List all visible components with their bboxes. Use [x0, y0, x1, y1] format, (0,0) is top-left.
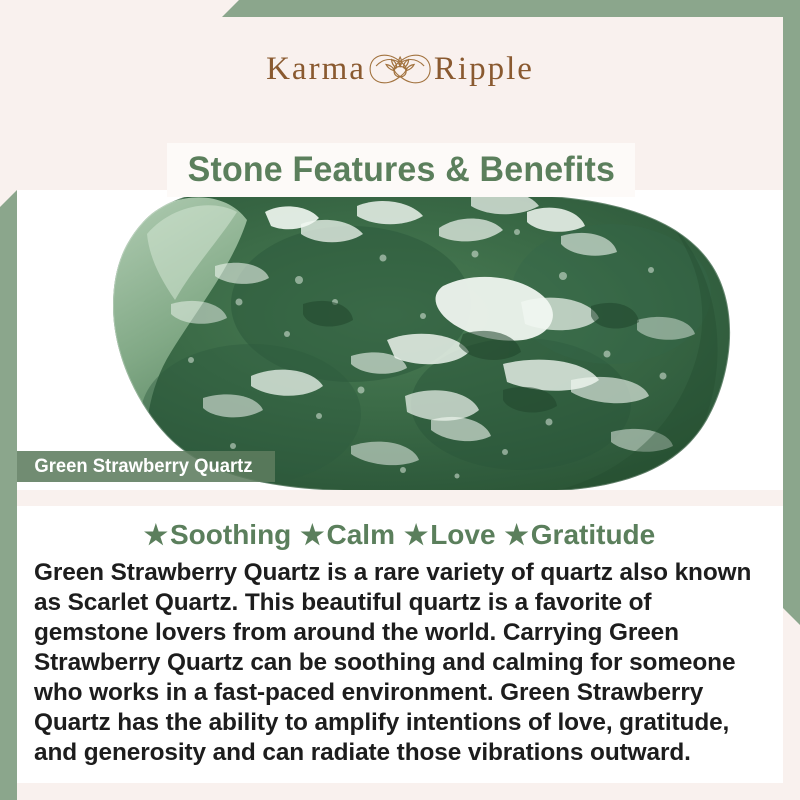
- feature-keyword-calm: Calm: [327, 519, 395, 550]
- bottom-cream-strip: [17, 783, 783, 800]
- star-icon-2: ★: [300, 520, 324, 550]
- header: Karma: [0, 0, 800, 120]
- brand-name-right: Ripple: [434, 53, 534, 86]
- stone-photo-panel: Green Strawberry Quartz: [17, 190, 783, 490]
- star-icon-4: ★: [505, 520, 529, 550]
- star-icon-1: ★: [144, 520, 168, 550]
- photo-caption-label: Green Strawberry Quartz: [34, 456, 252, 478]
- star-icon-3: ★: [404, 520, 428, 550]
- title-banner: Stone Features & Benefits: [167, 143, 635, 197]
- feature-keyword-love: Love: [430, 519, 495, 550]
- frame-band-left: [0, 190, 17, 800]
- feature-keyword-soothing: Soothing: [170, 519, 291, 550]
- lotus-infinity-icon: [368, 46, 432, 92]
- page-title: Stone Features & Benefits: [187, 150, 614, 190]
- photo-content-divider: [17, 490, 783, 506]
- brand-logo: Karma: [266, 46, 534, 92]
- stone-photo: [17, 190, 783, 490]
- feature-keyword-gratitude: Gratitude: [531, 519, 655, 550]
- feature-keyword-row: ★Soothing★Calm★Love★Gratitude: [17, 519, 783, 551]
- photo-caption: Green Strawberry Quartz: [17, 451, 275, 482]
- stone-description: Green Strawberry Quartz is a rare variet…: [34, 558, 768, 768]
- brand-name-left: Karma: [266, 53, 366, 86]
- content-panel: ★Soothing★Calm★Love★Gratitude Green Stra…: [17, 506, 783, 783]
- poster-root: Karma: [0, 0, 800, 800]
